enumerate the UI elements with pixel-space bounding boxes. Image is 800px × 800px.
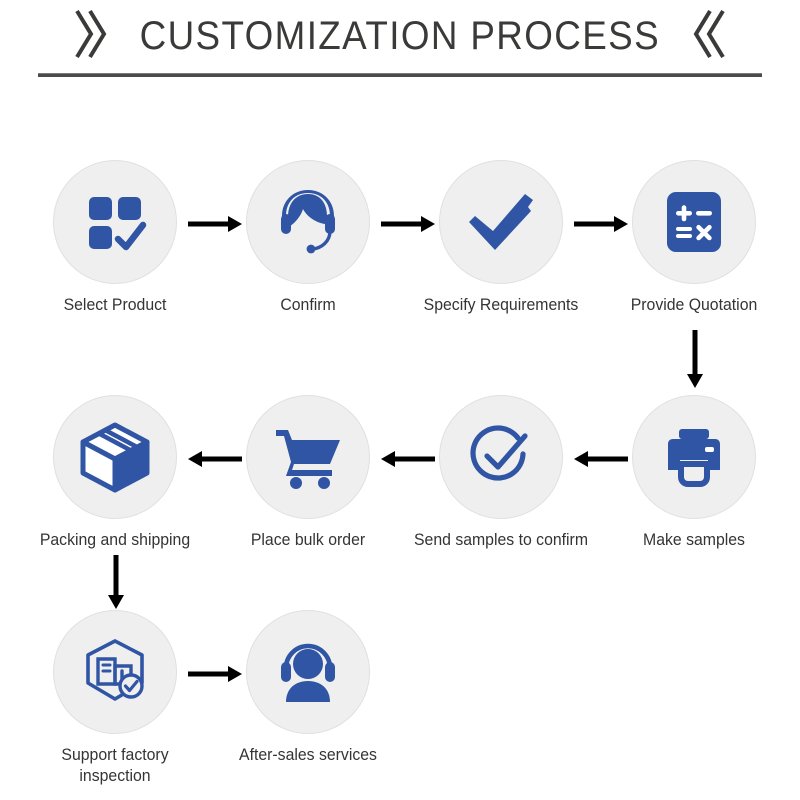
- title-divider: [38, 73, 762, 77]
- step-packing-and-shipping[interactable]: Packing and shipping: [20, 395, 210, 550]
- arrow-select-to-confirm: [186, 213, 244, 235]
- arrow-make-samples-to-send-samples: [572, 448, 630, 470]
- arrow-send-samples-to-bulk-order: [379, 448, 437, 470]
- arrow-packing-to-inspection: [105, 553, 127, 611]
- step-label: Send samples to confirm: [413, 529, 590, 550]
- arrow-inspection-to-after-sales: [186, 663, 244, 685]
- step-label: Confirm: [220, 294, 397, 315]
- step-icon-circle: [53, 160, 177, 284]
- process-flow: Select Product Confirm: [0, 100, 800, 800]
- check-circle-icon: [466, 422, 536, 492]
- step-icon-circle: [53, 610, 177, 734]
- title-row: CUSTOMIZATION PROCESS: [0, 6, 800, 66]
- step-label: After-sales services: [220, 744, 397, 765]
- step-icon-circle: [632, 160, 756, 284]
- chevron-left-double-icon: [693, 8, 727, 65]
- step-support-factory-inspection[interactable]: Support factory inspection: [20, 610, 210, 787]
- step-icon-circle: [246, 610, 370, 734]
- step-label: Provide Quotation: [606, 294, 783, 315]
- step-icon-circle: [632, 395, 756, 519]
- step-label: Select Product: [27, 294, 204, 315]
- step-label: Place bulk order: [220, 529, 397, 550]
- page-title: CUSTOMIZATION PROCESS: [140, 16, 660, 56]
- page-header: CUSTOMIZATION PROCESS: [0, 0, 800, 100]
- step-provide-quotation[interactable]: Provide Quotation: [599, 160, 789, 315]
- step-label: Make samples: [606, 529, 783, 550]
- support-agent-icon: [273, 187, 343, 257]
- step-place-bulk-order[interactable]: Place bulk order: [213, 395, 403, 550]
- chevron-right-double-icon: [73, 8, 107, 65]
- factory-inspection-icon: [79, 637, 151, 707]
- step-specify-requirements[interactable]: Specify Requirements: [406, 160, 596, 315]
- step-icon-circle: [439, 160, 563, 284]
- step-after-sales-services[interactable]: After-sales services: [213, 610, 403, 765]
- arrow-specify-to-quotation: [572, 213, 630, 235]
- step-icon-circle: [246, 395, 370, 519]
- arrow-bulk-order-to-packing: [186, 448, 244, 470]
- printer-icon: [659, 424, 729, 490]
- step-label: Specify Requirements: [413, 294, 590, 315]
- step-confirm[interactable]: Confirm: [213, 160, 403, 315]
- step-make-samples[interactable]: Make samples: [599, 395, 789, 550]
- shopping-cart-icon: [272, 424, 344, 490]
- grid-check-icon: [82, 189, 148, 255]
- step-label: Packing and shipping: [27, 529, 204, 550]
- headset-person-icon: [273, 640, 343, 704]
- step-send-samples-to-confirm[interactable]: Send samples to confirm: [406, 395, 596, 550]
- calculator-icon: [663, 189, 725, 255]
- step-icon-circle: [246, 160, 370, 284]
- package-box-icon: [79, 421, 151, 493]
- step-icon-circle: [439, 395, 563, 519]
- arrow-quotation-to-make-samples: [684, 328, 706, 390]
- step-select-product[interactable]: Select Product: [20, 160, 210, 315]
- step-label: Support factory inspection: [27, 744, 204, 787]
- step-icon-circle: [53, 395, 177, 519]
- arrow-confirm-to-specify: [379, 213, 437, 235]
- checkmark-icon: [465, 189, 537, 255]
